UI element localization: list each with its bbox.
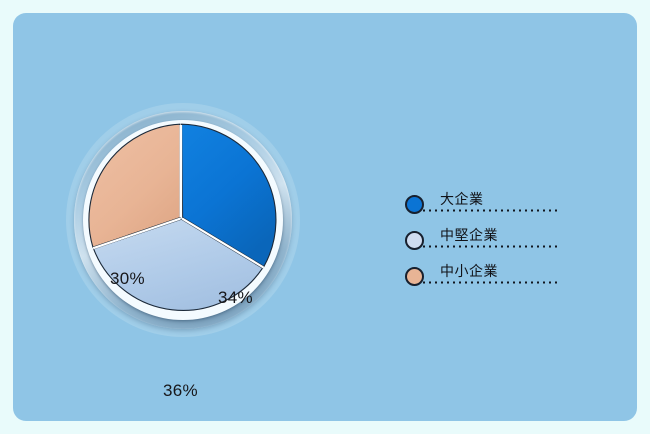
legend-item-large-enterprise[interactable]: 大企業 bbox=[405, 189, 575, 225]
pie-slices bbox=[83, 120, 283, 320]
legend-leader-line bbox=[421, 281, 560, 284]
chart-legend: 大企業 中堅企業 中小企業 bbox=[405, 189, 575, 297]
pie-label-small-enterprise: 30% bbox=[110, 269, 145, 289]
chart-panel: 34% 36% 30% 大企業 中堅企業 中小企業 bbox=[13, 13, 637, 421]
pie-label-mid-enterprise: 36% bbox=[163, 381, 198, 401]
pie-label-large-enterprise: 34% bbox=[218, 288, 253, 308]
legend-label-small-enterprise: 中小企業 bbox=[440, 261, 498, 281]
legend-leader-line bbox=[421, 245, 560, 248]
legend-label-mid-enterprise: 中堅企業 bbox=[440, 225, 498, 245]
legend-label-large-enterprise: 大企業 bbox=[440, 189, 484, 209]
legend-item-small-enterprise[interactable]: 中小企業 bbox=[405, 261, 575, 297]
legend-leader-line bbox=[421, 209, 560, 212]
legend-item-mid-enterprise[interactable]: 中堅企業 bbox=[405, 225, 575, 261]
pie-chart: 34% 36% 30% bbox=[63, 98, 333, 373]
